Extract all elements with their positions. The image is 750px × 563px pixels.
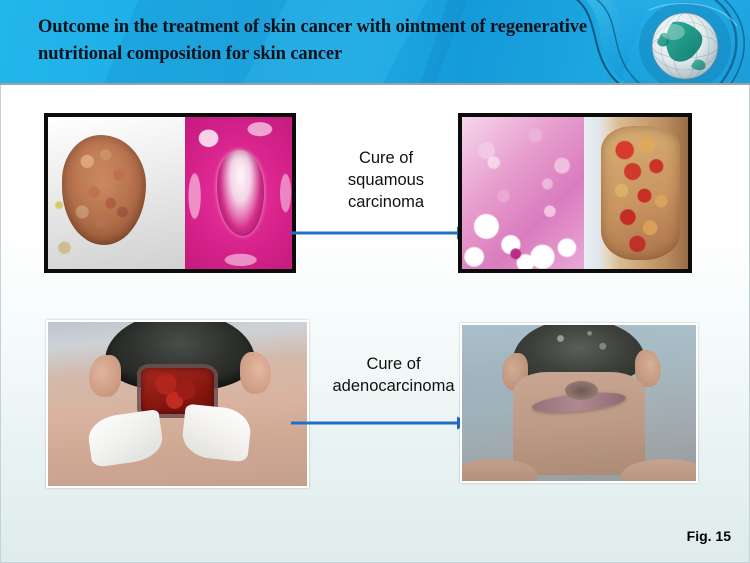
after-adenocarcinoma-panels [462,325,696,481]
page-title: Outcome in the treatment of skin cancer … [38,14,598,68]
slide: Outcome in the treatment of skin cancer … [0,0,750,563]
globe-icon [652,13,718,79]
gauze-right [180,404,252,463]
arrow-squamous [291,225,471,241]
after-adenocarcinoma-image[interactable] [460,323,698,483]
gauze-left [86,409,165,468]
after-squamous-image[interactable] [458,113,692,273]
arrow-right-icon [291,415,471,431]
cleared-histology-photo [462,117,584,269]
before-squamous-panels [48,117,292,269]
ulcerated-leg-tumour-photo [48,117,185,269]
caption-cure-of-squamous-carcinoma: Cure of squamous carcinoma [306,147,466,213]
arrow-right-icon [291,225,471,241]
left-ear [89,355,120,398]
figure-label: Fig. 15 [687,528,731,544]
slide-body: Cure of squamous carcinoma [0,85,750,563]
after-squamous-panels [462,117,688,269]
before-squamous-image[interactable] [44,113,296,273]
open-neck-wound-photo [48,322,307,486]
before-adenocarcinoma-image[interactable] [46,320,309,488]
healing-leg-photo [584,117,688,269]
squamous-histology-pearl-photo [185,117,292,269]
healed-neck-scar-photo [462,325,696,481]
scar-spot [565,381,598,400]
slide-header: Outcome in the treatment of skin cancer … [0,0,750,85]
caption-cure-of-adenocarcinoma: Cure of adenocarcinoma [306,353,481,397]
arrow-adenocarcinoma [291,415,471,431]
right-ear [240,352,271,395]
before-adenocarcinoma-panels [48,322,307,486]
